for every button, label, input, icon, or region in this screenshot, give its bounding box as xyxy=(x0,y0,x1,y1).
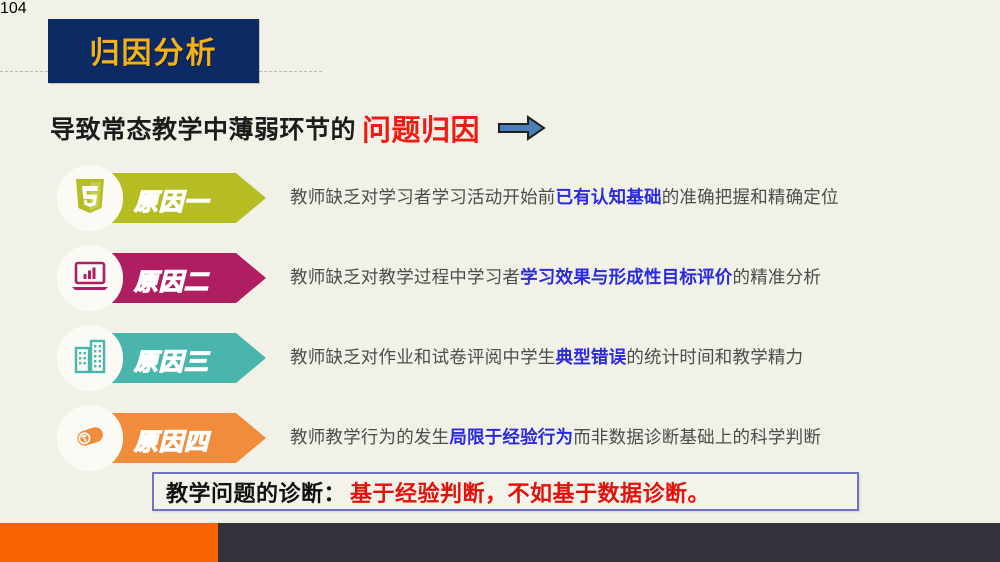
reason-text-after: 而非数据诊断基础上的科学判断 xyxy=(573,428,821,448)
headline-red-part: 问题归因 xyxy=(362,107,480,149)
reason-text-after: 的准确把握和精确定位 xyxy=(662,188,839,208)
reason-icon-badge xyxy=(57,165,123,231)
reason-text-after: 的统计时间和教学精力 xyxy=(626,348,803,368)
conclusion-box: 教学问题的诊断： 基于经验判断，不如基于数据诊断。 xyxy=(152,472,859,511)
right-arrow-icon xyxy=(498,115,546,141)
laptop-chart-icon xyxy=(71,260,109,297)
page-number-badge: 104 xyxy=(0,0,1000,18)
reason-text-before: 教师缺乏对教学过程中学习者 xyxy=(290,268,520,288)
hand-mouse-icon xyxy=(71,420,109,457)
slide-title-chip: 归因分析 xyxy=(48,19,259,83)
reason-label: 原因二 xyxy=(134,262,209,297)
reason-list: 原因一 教师缺乏对学习者学习活动开始前已有认知基础的准确把握和精确定位 xyxy=(0,160,1000,480)
footer-accent-block xyxy=(0,523,218,562)
reason-label: 原因一 xyxy=(134,182,209,217)
reason-text-after: 的精准分析 xyxy=(733,268,822,288)
slide-canvas: 归因分析 导致常态教学中薄弱环节的 问题归因 原因一 xyxy=(0,0,1000,562)
reason-label: 原因四 xyxy=(134,422,209,457)
headline-black-part: 导致常态教学中薄弱环节的 xyxy=(50,110,356,146)
footer-dark-block xyxy=(218,523,1000,562)
reason-text: 教师缺乏对教学过程中学习者学习效果与形成性目标评价的精准分析 xyxy=(290,264,821,289)
reason-text-before: 教师教学行为的发生 xyxy=(290,428,449,448)
conclusion-prefix: 教学问题的诊断： xyxy=(166,476,346,508)
reason-text: 教师教学行为的发生局限于经验行为而非数据诊断基础上的科学判断 xyxy=(290,424,821,449)
headline: 导致常态教学中薄弱环节的 问题归因 xyxy=(50,107,546,149)
reason-text-highlight: 典型错误 xyxy=(556,348,627,368)
reason-text-before: 教师缺乏对学习者学习活动开始前 xyxy=(290,188,556,208)
reason-label: 原因三 xyxy=(134,342,209,377)
reason-text-highlight: 局限于经验行为 xyxy=(449,428,573,448)
footer-bar xyxy=(0,523,1000,562)
reason-row: 原因一 教师缺乏对学习者学习活动开始前已有认知基础的准确把握和精确定位 xyxy=(0,160,1000,240)
reason-text-highlight: 学习效果与形成性目标评价 xyxy=(520,268,732,288)
page-title: 归因分析 xyxy=(90,28,218,72)
reason-icon-badge xyxy=(57,245,123,311)
reason-icon-badge xyxy=(57,405,123,471)
reason-text: 教师缺乏对作业和试卷评阅中学生典型错误的统计时间和教学精力 xyxy=(290,344,803,369)
reason-text-before: 教师缺乏对作业和试卷评阅中学生 xyxy=(290,348,556,368)
reason-text-highlight: 已有认知基础 xyxy=(556,188,662,208)
reason-row: 原因二 教师缺乏对教学过程中学习者学习效果与形成性目标评价的精准分析 xyxy=(0,240,1000,320)
reason-row: 原因四 教师教学行为的发生局 xyxy=(0,400,1000,480)
reason-text: 教师缺乏对学习者学习活动开始前已有认知基础的准确把握和精确定位 xyxy=(290,184,839,209)
html5-shield-icon xyxy=(73,177,107,220)
buildings-icon xyxy=(72,338,108,379)
conclusion-emphasis: 基于经验判断，不如基于数据诊断。 xyxy=(350,476,710,508)
reason-icon-badge xyxy=(57,325,123,391)
reason-row: 原因三 xyxy=(0,320,1000,400)
